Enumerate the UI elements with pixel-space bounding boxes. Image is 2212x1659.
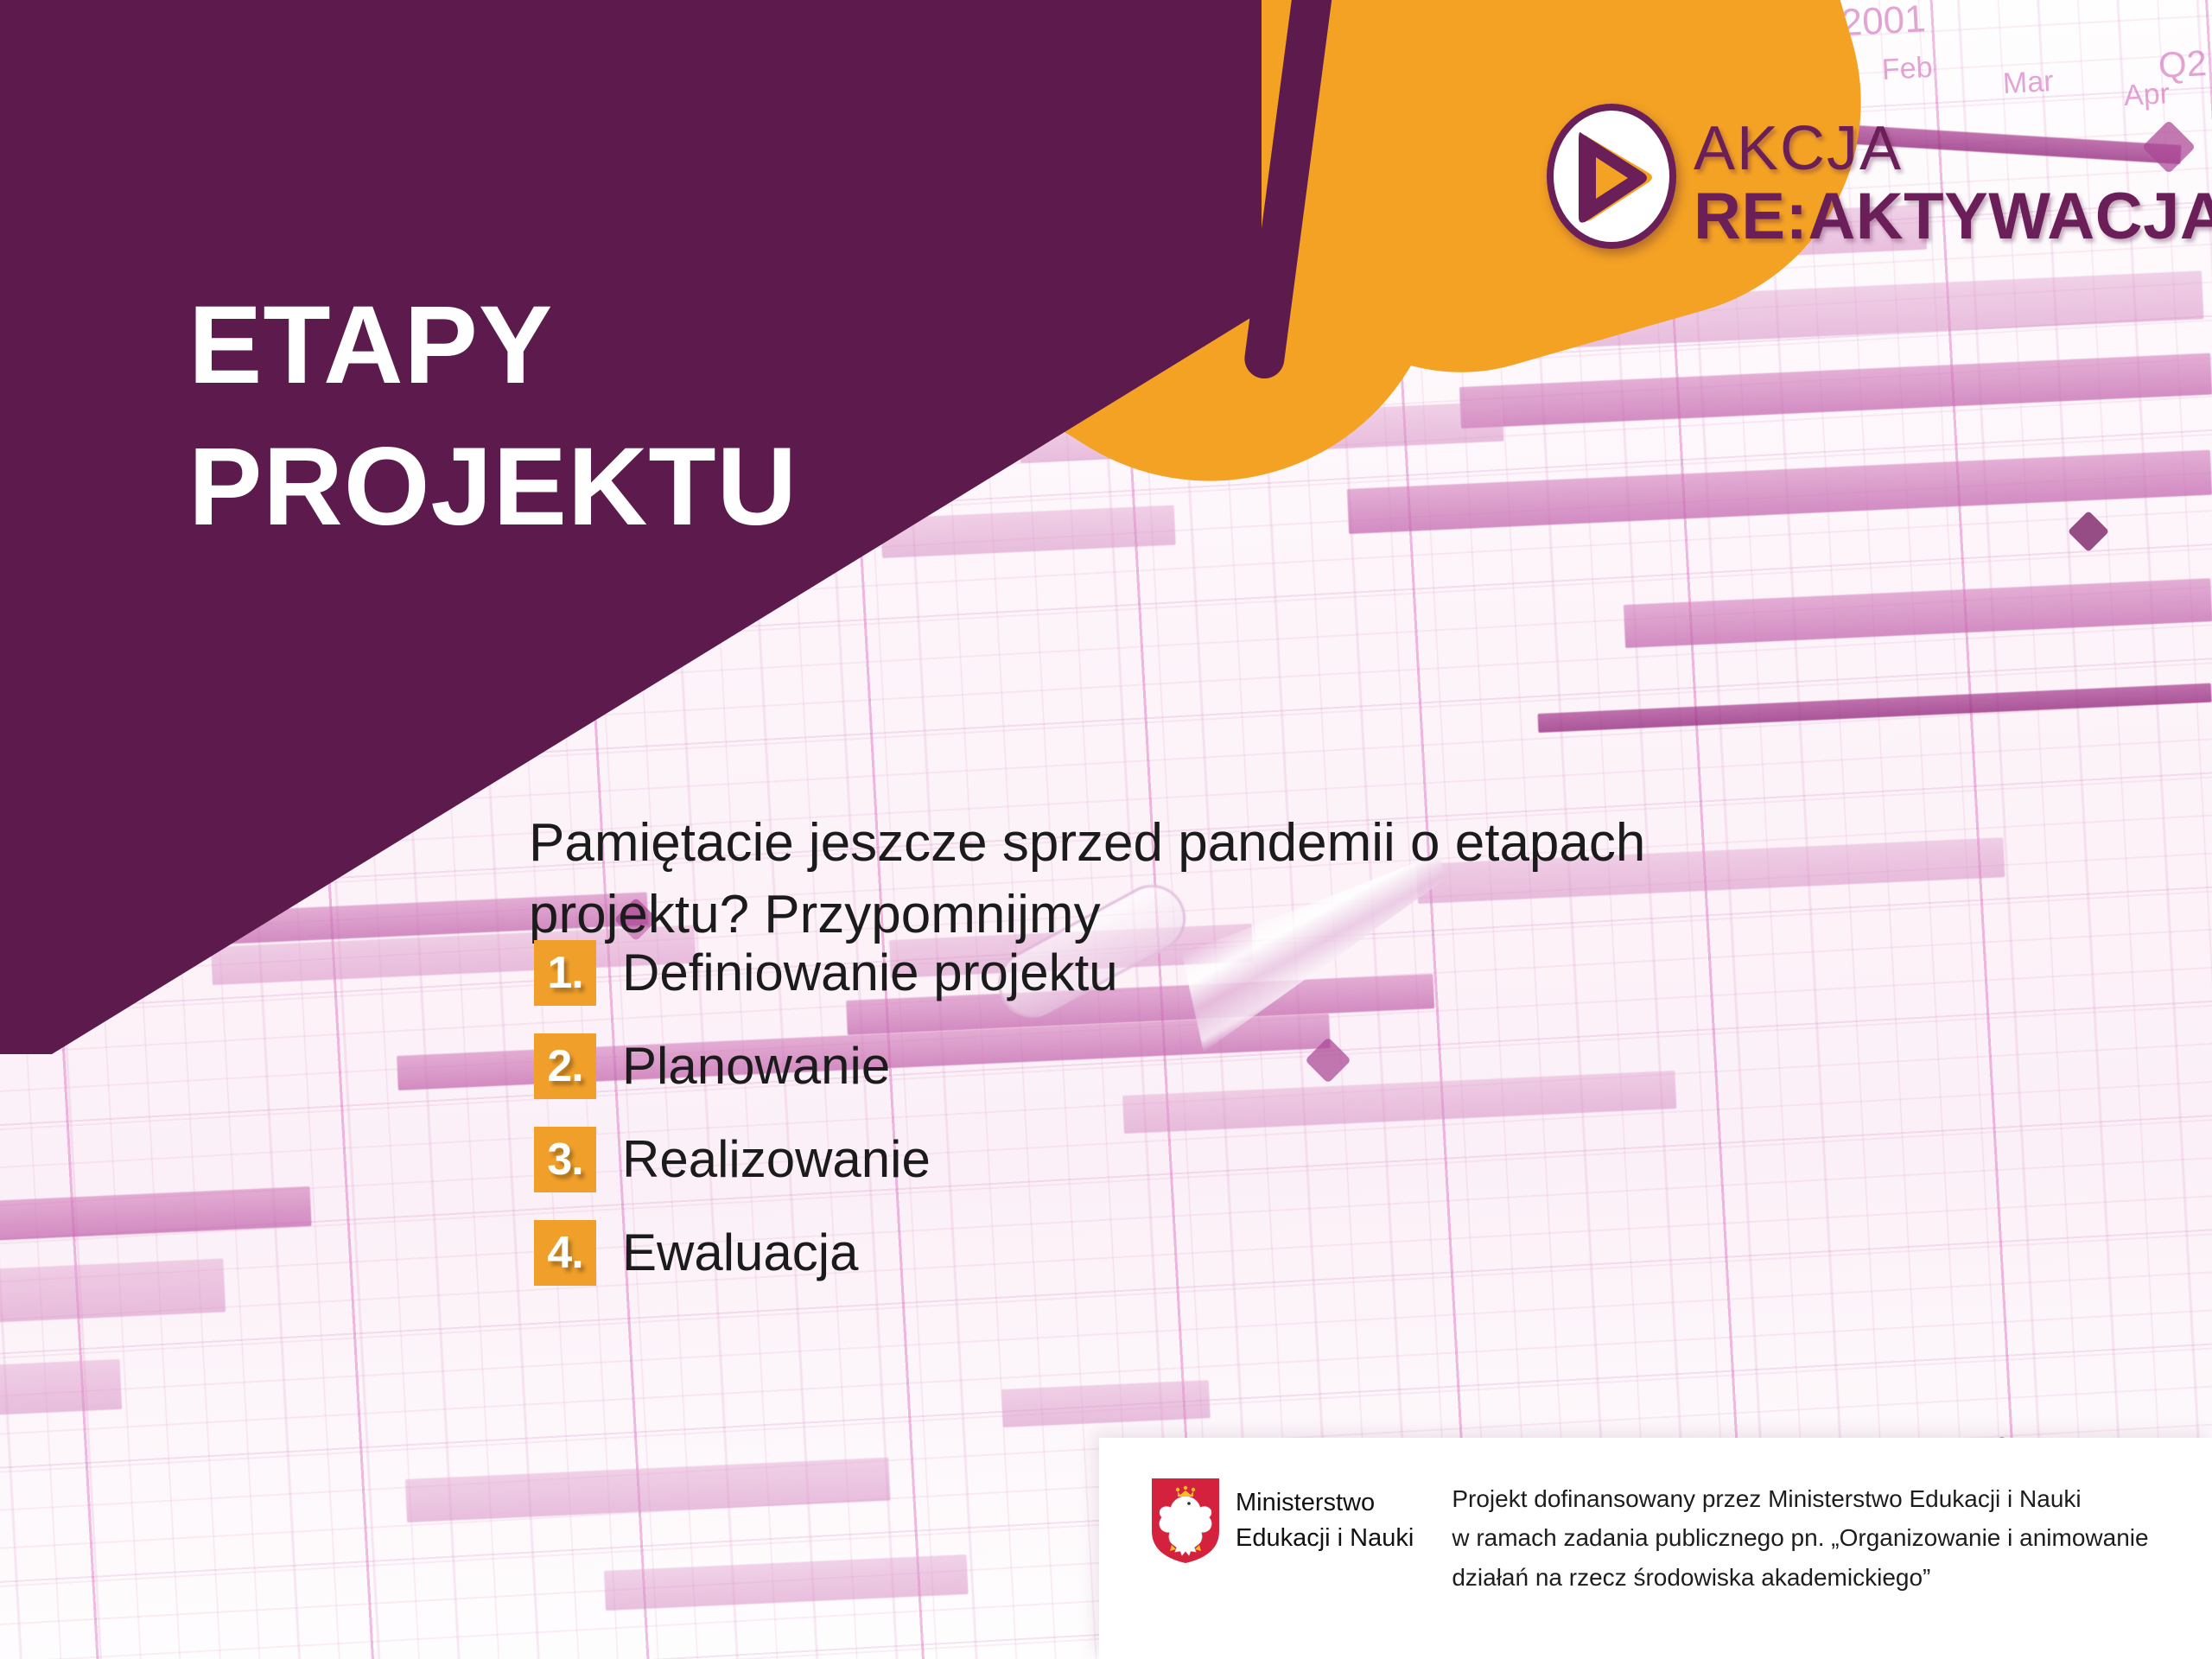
ministry-name: Ministerstwo Edukacji i Nauki <box>1236 1485 1414 1556</box>
play-button-circle-icon <box>1547 104 1676 249</box>
brand-wordmark: AKCJA RE:AKTYWACJA <box>1694 104 2212 253</box>
step-label: Planowanie <box>622 1040 890 1092</box>
step-number-badge: 4. <box>534 1220 596 1286</box>
list-item: 2. Planowanie <box>534 1033 1118 1099</box>
project-stages-list: 1. Definiowanie projektu 2. Planowanie 3… <box>534 940 1118 1313</box>
gantt-bar <box>0 1359 122 1417</box>
page-title: ETAPY PROJEKTU <box>188 275 798 558</box>
step-label: Ewaluacja <box>622 1227 859 1279</box>
gantt-month-label-feb: Feb <box>1881 51 1934 87</box>
step-number-badge: 2. <box>534 1033 596 1099</box>
step-label: Definiowanie projektu <box>622 947 1118 999</box>
gantt-month-label-mar: Mar <box>2002 65 2055 101</box>
list-item: 1. Definiowanie projektu <box>534 940 1118 1006</box>
poster-canvas: Q1 2001 Q2 Jan Feb Mar Apr <box>0 0 2212 1659</box>
grant-disclaimer-text: Projekt dofinansowany przez Ministerstwo… <box>1452 1476 2148 1597</box>
brand-line-reaktywacja: RE:AKTYWACJA <box>1694 180 2212 253</box>
list-item: 3. Realizowanie <box>534 1127 1118 1192</box>
brand-line-akcja: AKCJA <box>1694 118 2212 180</box>
step-label: Realizowanie <box>622 1134 931 1185</box>
lead-paragraph: Pamiętacie jeszcze sprzed pandemii o eta… <box>529 807 1877 950</box>
step-number-badge: 1. <box>534 940 596 1006</box>
step-number-badge: 3. <box>534 1127 596 1192</box>
list-item: 4. Ewaluacja <box>534 1220 1118 1286</box>
funding-footer-card: Ministerstwo Edukacji i Nauki Projekt do… <box>1099 1438 2212 1659</box>
ministry-logo: Ministerstwo Edukacji i Nauki <box>1149 1476 1414 1566</box>
polish-coat-of-arms-icon <box>1149 1476 1222 1566</box>
brand-logo-lockup[interactable]: AKCJA RE:AKTYWACJA <box>1547 104 2212 253</box>
